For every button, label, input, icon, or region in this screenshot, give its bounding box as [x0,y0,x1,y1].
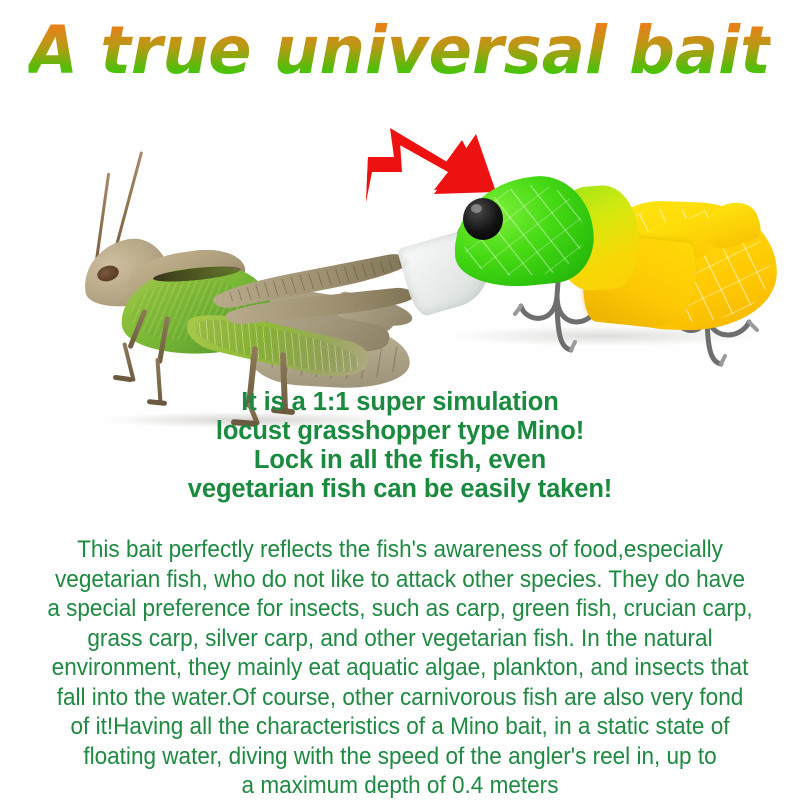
description-line-2: vegetarian fish, who do not like to atta… [32,565,768,595]
description-line-1: This bait perfectly reflects the fish's … [32,535,768,565]
headline-line-2: locust grasshopper type Mino! [0,417,800,446]
headline-line-4: vegetarian fish can be easily taken! [0,475,800,504]
title-banner: A true universal bait [0,8,800,92]
comparison-photo-band [0,95,800,390]
description-line-9: a maximum depth of 0.4 meters [32,771,768,801]
description-line-3: a special preference for insects, such a… [32,594,768,624]
lure-eye-highlight [471,204,482,213]
fishing-lure-photo [405,150,775,385]
page-title: A true universal bait [29,12,771,89]
headline-line-3: Lock in all the fish, even [0,446,800,475]
description-line-7: of it!Having all the characteristics of … [32,712,768,742]
description-line-4: grass carp, silver carp, and other veget… [32,624,768,654]
description-line-8: floating water, diving with the speed of… [32,742,768,772]
lure-eye [463,198,503,240]
product-banner: A true universal bait [0,0,800,800]
product-description: This bait perfectly reflects the fish's … [32,535,768,801]
description-line-6: fall into the water.Of course, other car… [32,683,768,713]
product-headline: It is a 1:1 super simulation locust gras… [0,388,800,504]
headline-line-1: It is a 1:1 super simulation [0,388,800,417]
description-line-5: environment, they mainly eat aquatic alg… [32,653,768,683]
